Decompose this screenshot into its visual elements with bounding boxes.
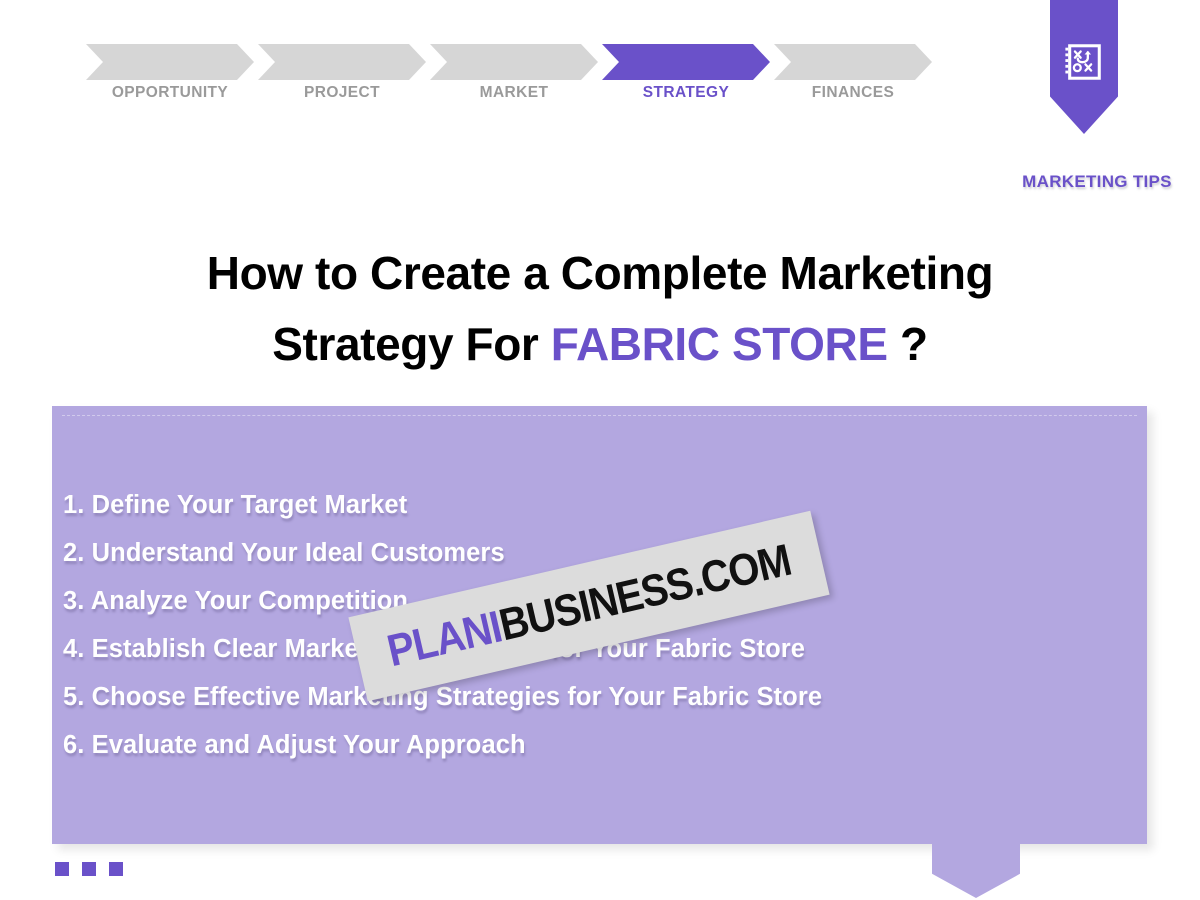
- step-strategy[interactable]: STRATEGY: [602, 44, 770, 80]
- title-highlight-business-type: FABRIC STORE: [551, 318, 888, 370]
- step-project[interactable]: PROJECT: [258, 44, 426, 80]
- page-title: How to Create a Complete Marketing Strat…: [60, 238, 1140, 381]
- step-label: FINANCES: [774, 84, 932, 102]
- title-line-2-prefix: Strategy For: [272, 318, 551, 370]
- step-chevron-shape: [774, 44, 932, 80]
- title-line-1: How to Create a Complete Marketing: [207, 247, 993, 299]
- step-chevron-shape: [258, 44, 426, 80]
- title-line-2-suffix: ?: [888, 318, 928, 370]
- footer-dots: [55, 862, 123, 876]
- step-opportunity[interactable]: OPPORTUNITY: [86, 44, 254, 80]
- step-chevron-shape: [86, 44, 254, 80]
- step-label: OPPORTUNITY: [86, 84, 254, 102]
- footer-dot: [109, 862, 123, 876]
- panel-ribbon-tail: [932, 843, 1020, 898]
- step-chevron-shape: [602, 44, 770, 80]
- watermark-brand-prefix: PLANI: [383, 602, 506, 676]
- strategy-playbook-icon: [1063, 41, 1105, 83]
- step-chevron-shape: [430, 44, 598, 80]
- step-label: PROJECT: [258, 84, 426, 102]
- marketing-tips-label: MARKETING TIPS: [1002, 172, 1192, 192]
- list-item: 5. Choose Effective Marketing Strategies…: [63, 673, 1133, 721]
- footer-dot: [55, 862, 69, 876]
- step-market[interactable]: MARKET: [430, 44, 598, 80]
- breadcrumb-stepper: OPPORTUNITY PROJECT MARKET STRATEGY FINA…: [86, 44, 932, 106]
- list-item: 1. Define Your Target Market: [63, 481, 1133, 529]
- list-item: 6. Evaluate and Adjust Your Approach: [63, 721, 1133, 769]
- step-label: MARKET: [430, 84, 598, 102]
- marketing-tips-ribbon: [1050, 0, 1118, 134]
- step-finances[interactable]: FINANCES: [774, 44, 932, 80]
- slide-canvas: OPPORTUNITY PROJECT MARKET STRATEGY FINA…: [0, 0, 1200, 900]
- step-label: STRATEGY: [602, 84, 770, 102]
- footer-dot: [82, 862, 96, 876]
